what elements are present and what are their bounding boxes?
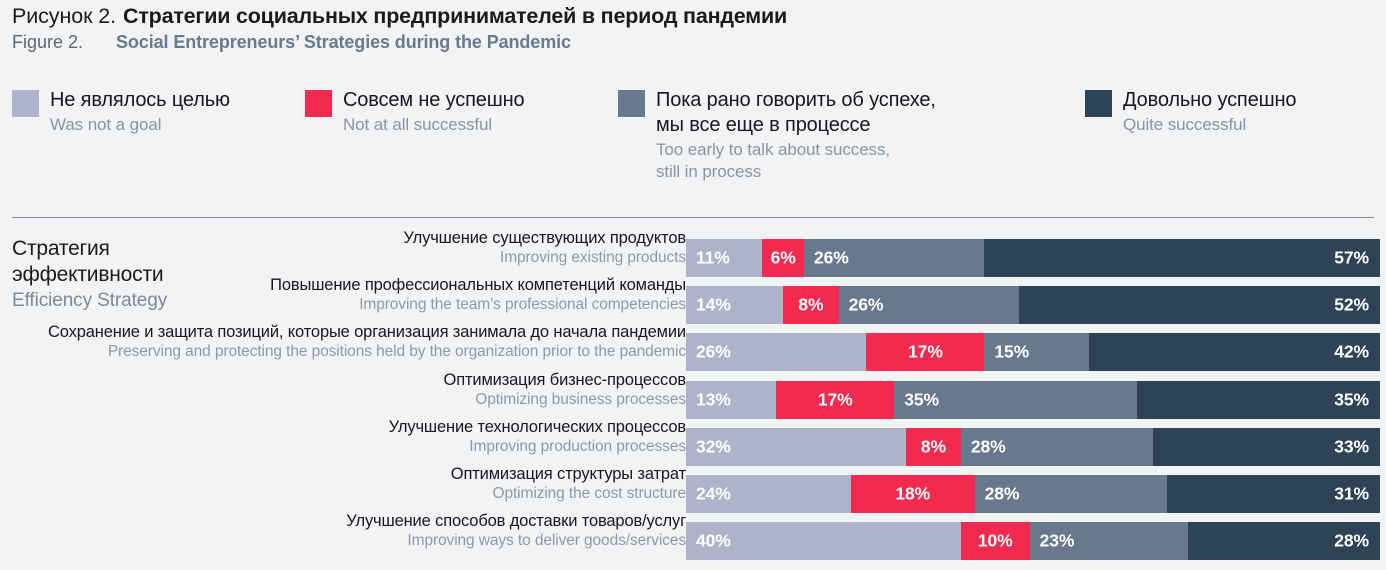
bar-segment-value: 23% xyxy=(1040,531,1075,552)
bar-segment[interactable]: 40% xyxy=(686,522,961,560)
stacked-bar: 26%17%15%42% xyxy=(686,333,1380,371)
bar-segment-value: 32% xyxy=(696,436,731,457)
stacked-bar: 11%6%26%57% xyxy=(686,239,1380,277)
row-label: Улучшение существующих продуктовImprovin… xyxy=(26,228,686,268)
stacked-bar: 40%10%23%28% xyxy=(686,522,1380,560)
row-label-ru: Улучшение технологических процессов xyxy=(26,417,686,437)
legend-label-ru: Не являлось целью xyxy=(50,88,230,113)
bar-segment-value: 11% xyxy=(696,248,730,269)
bar-segment-value: 13% xyxy=(696,389,731,410)
row-label-en: Improving production processes xyxy=(26,437,686,457)
legend-swatch-icon xyxy=(12,90,39,117)
legend-label-en: Quite successful xyxy=(1123,114,1296,136)
legend-divider xyxy=(12,217,1374,218)
row-label-ru: Сохранение и защита позиций, которые орг… xyxy=(26,322,686,342)
bar-segment-value: 8% xyxy=(921,436,946,457)
bar-segment-value: 17% xyxy=(908,342,943,363)
legend-item-quite-successful[interactable]: Довольно успешно Quite successful xyxy=(1085,88,1296,136)
chart-row: Улучшение способов доставки товаров/услу… xyxy=(0,522,1386,560)
row-label-en: Improving existing products xyxy=(26,248,686,268)
bar-segment-value: 14% xyxy=(696,295,731,316)
chart-row: Улучшение технологических процессовImpro… xyxy=(0,428,1386,466)
bar-segment[interactable]: 28% xyxy=(1188,522,1380,560)
row-label-en: Optimizing business processes xyxy=(26,390,686,410)
bar-segment[interactable]: 23% xyxy=(1030,522,1188,560)
row-label-en: Improving the team’s professional compet… xyxy=(26,295,686,315)
bar-segment-value: 26% xyxy=(814,248,849,269)
bar-segment[interactable]: 14% xyxy=(686,286,783,324)
bar-segment[interactable]: 17% xyxy=(776,381,894,419)
bar-segment[interactable]: 13% xyxy=(686,381,776,419)
bar-segment[interactable]: 28% xyxy=(975,475,1167,513)
bar-segment[interactable]: 10% xyxy=(961,522,1030,560)
figure-container: Рисунок 2. Стратегии социальных предприн… xyxy=(0,0,1386,570)
stacked-bar: 32%8%28%33% xyxy=(686,428,1380,466)
legend-item-too-early[interactable]: Пока рано говорить об успехе, мы все еще… xyxy=(618,88,936,183)
bar-segment-value: 35% xyxy=(904,389,939,410)
bar-segment-value: 26% xyxy=(849,295,884,316)
bar-segment-value: 15% xyxy=(994,342,1029,363)
bar-segment-value: 33% xyxy=(1334,436,1369,457)
bar-segment[interactable]: 31% xyxy=(1167,475,1380,513)
bar-segment-value: 40% xyxy=(696,531,731,552)
bar-segment[interactable]: 35% xyxy=(894,381,1137,419)
bar-segment-value: 31% xyxy=(1334,484,1369,505)
row-label-ru: Оптимизация бизнес-процессов xyxy=(26,370,686,390)
row-label: Повышение профессиональных компетенций к… xyxy=(26,275,686,315)
chart-row: Повышение профессиональных компетенций к… xyxy=(0,286,1386,324)
legend-label-ru: Довольно успешно xyxy=(1123,88,1296,113)
bar-segment[interactable]: 6% xyxy=(762,239,804,277)
bar-segment-value: 8% xyxy=(798,295,823,316)
legend-label-ru: Пока рано говорить об успехе, мы все еще… xyxy=(656,88,936,138)
row-label: Сохранение и защита позиций, которые орг… xyxy=(26,322,686,362)
bar-segment[interactable]: 11% xyxy=(686,239,762,277)
chart-row: Оптимизация бизнес-процессовOptimizing b… xyxy=(0,381,1386,419)
bar-segment-value: 6% xyxy=(771,248,796,269)
bar-segment-value: 28% xyxy=(1334,531,1369,552)
bar-segment-value: 28% xyxy=(971,436,1006,457)
bar-segment[interactable]: 26% xyxy=(804,239,984,277)
bar-segment[interactable]: 42% xyxy=(1089,333,1380,371)
legend-label-en: Was not a goal xyxy=(50,114,230,136)
chart-legend: Не являлось целью Was not a goal Совсем … xyxy=(12,88,1374,198)
bar-segment[interactable]: 18% xyxy=(851,475,975,513)
bar-segment[interactable]: 33% xyxy=(1153,428,1380,466)
bar-segment[interactable]: 26% xyxy=(686,333,866,371)
row-label: Оптимизация структуры затратOptimizing t… xyxy=(26,464,686,504)
bar-segment-value: 28% xyxy=(985,484,1020,505)
title-row-ru: Рисунок 2. Стратегии социальных предприн… xyxy=(12,4,1372,29)
bar-segment-value: 24% xyxy=(696,484,731,505)
row-label-ru: Улучшение способов доставки товаров/услу… xyxy=(26,511,686,531)
legend-label-en: Too early to talk about success, still i… xyxy=(656,139,936,183)
bar-segment[interactable]: 35% xyxy=(1137,381,1380,419)
bar-segment-value: 10% xyxy=(978,531,1013,552)
bar-segment[interactable]: 28% xyxy=(961,428,1153,466)
chart-row: Оптимизация структуры затратOptimizing t… xyxy=(0,475,1386,513)
row-label-en: Optimizing the cost structure xyxy=(26,484,686,504)
bar-segment-value: 57% xyxy=(1334,248,1369,269)
bar-segment[interactable]: 57% xyxy=(984,239,1380,277)
stacked-bar-chart: Стратегия эффективности Efficiency Strat… xyxy=(0,228,1386,570)
row-label: Улучшение способов доставки товаров/услу… xyxy=(26,511,686,551)
row-label-ru: Улучшение существующих продуктов xyxy=(26,228,686,248)
legend-swatch-icon xyxy=(305,90,332,117)
bar-segment[interactable]: 32% xyxy=(686,428,906,466)
bar-segment-value: 35% xyxy=(1334,389,1369,410)
figure-number-en: Figure 2. xyxy=(12,32,116,53)
stacked-bar: 14%8%26%52% xyxy=(686,286,1380,324)
figure-title-block: Рисунок 2. Стратегии социальных предприн… xyxy=(12,4,1372,53)
stacked-bar: 24%18%28%31% xyxy=(686,475,1380,513)
row-label-en: Preserving and protecting the positions … xyxy=(26,342,686,362)
row-label-ru: Повышение профессиональных компетенций к… xyxy=(26,275,686,295)
legend-swatch-icon xyxy=(1085,90,1112,117)
figure-title-ru: Стратегии социальных предпринимателей в … xyxy=(123,4,787,29)
row-label: Улучшение технологических процессовImpro… xyxy=(26,417,686,457)
stacked-bar: 13%17%35%35% xyxy=(686,381,1380,419)
bar-segment[interactable]: 17% xyxy=(866,333,984,371)
legend-text: Совсем не успешно Not at all successful xyxy=(343,88,525,136)
legend-label-en: Not at all successful xyxy=(343,114,525,136)
bar-segment[interactable]: 8% xyxy=(906,428,961,466)
title-row-en: Figure 2. Social Entrepreneurs’ Strategi… xyxy=(12,32,1372,53)
legend-item-not-at-all-successful[interactable]: Совсем не успешно Not at all successful xyxy=(305,88,525,136)
bar-segment-value: 26% xyxy=(696,342,731,363)
figure-title-en: Social Entrepreneurs’ Strategies during … xyxy=(116,32,571,53)
chart-row: Улучшение существующих продуктовImprovin… xyxy=(0,239,1386,277)
legend-item-was-not-a-goal[interactable]: Не являлось целью Was not a goal xyxy=(12,88,230,136)
bar-segment[interactable]: 15% xyxy=(984,333,1088,371)
legend-swatch-icon xyxy=(618,90,645,117)
legend-text: Не являлось целью Was not a goal xyxy=(50,88,230,136)
bar-segment-value: 17% xyxy=(818,389,853,410)
legend-text: Довольно успешно Quite successful xyxy=(1123,88,1296,136)
legend-label-ru: Совсем не успешно xyxy=(343,88,525,113)
bar-segment[interactable]: 52% xyxy=(1019,286,1380,324)
legend-text: Пока рано говорить об успехе, мы все еще… xyxy=(656,88,936,183)
row-label-en: Improving ways to deliver goods/services xyxy=(26,531,686,551)
bar-segment[interactable]: 26% xyxy=(839,286,1019,324)
chart-row: Сохранение и защита позиций, которые орг… xyxy=(0,333,1386,371)
figure-number-ru: Рисунок 2. xyxy=(12,4,116,29)
bar-segment-value: 18% xyxy=(895,484,930,505)
bar-segment-value: 42% xyxy=(1334,342,1369,363)
row-label: Оптимизация бизнес-процессовOptimizing b… xyxy=(26,370,686,410)
bar-segment[interactable]: 8% xyxy=(783,286,839,324)
bar-segment-value: 52% xyxy=(1334,295,1369,316)
bar-segment[interactable]: 24% xyxy=(686,475,851,513)
row-label-ru: Оптимизация структуры затрат xyxy=(26,464,686,484)
